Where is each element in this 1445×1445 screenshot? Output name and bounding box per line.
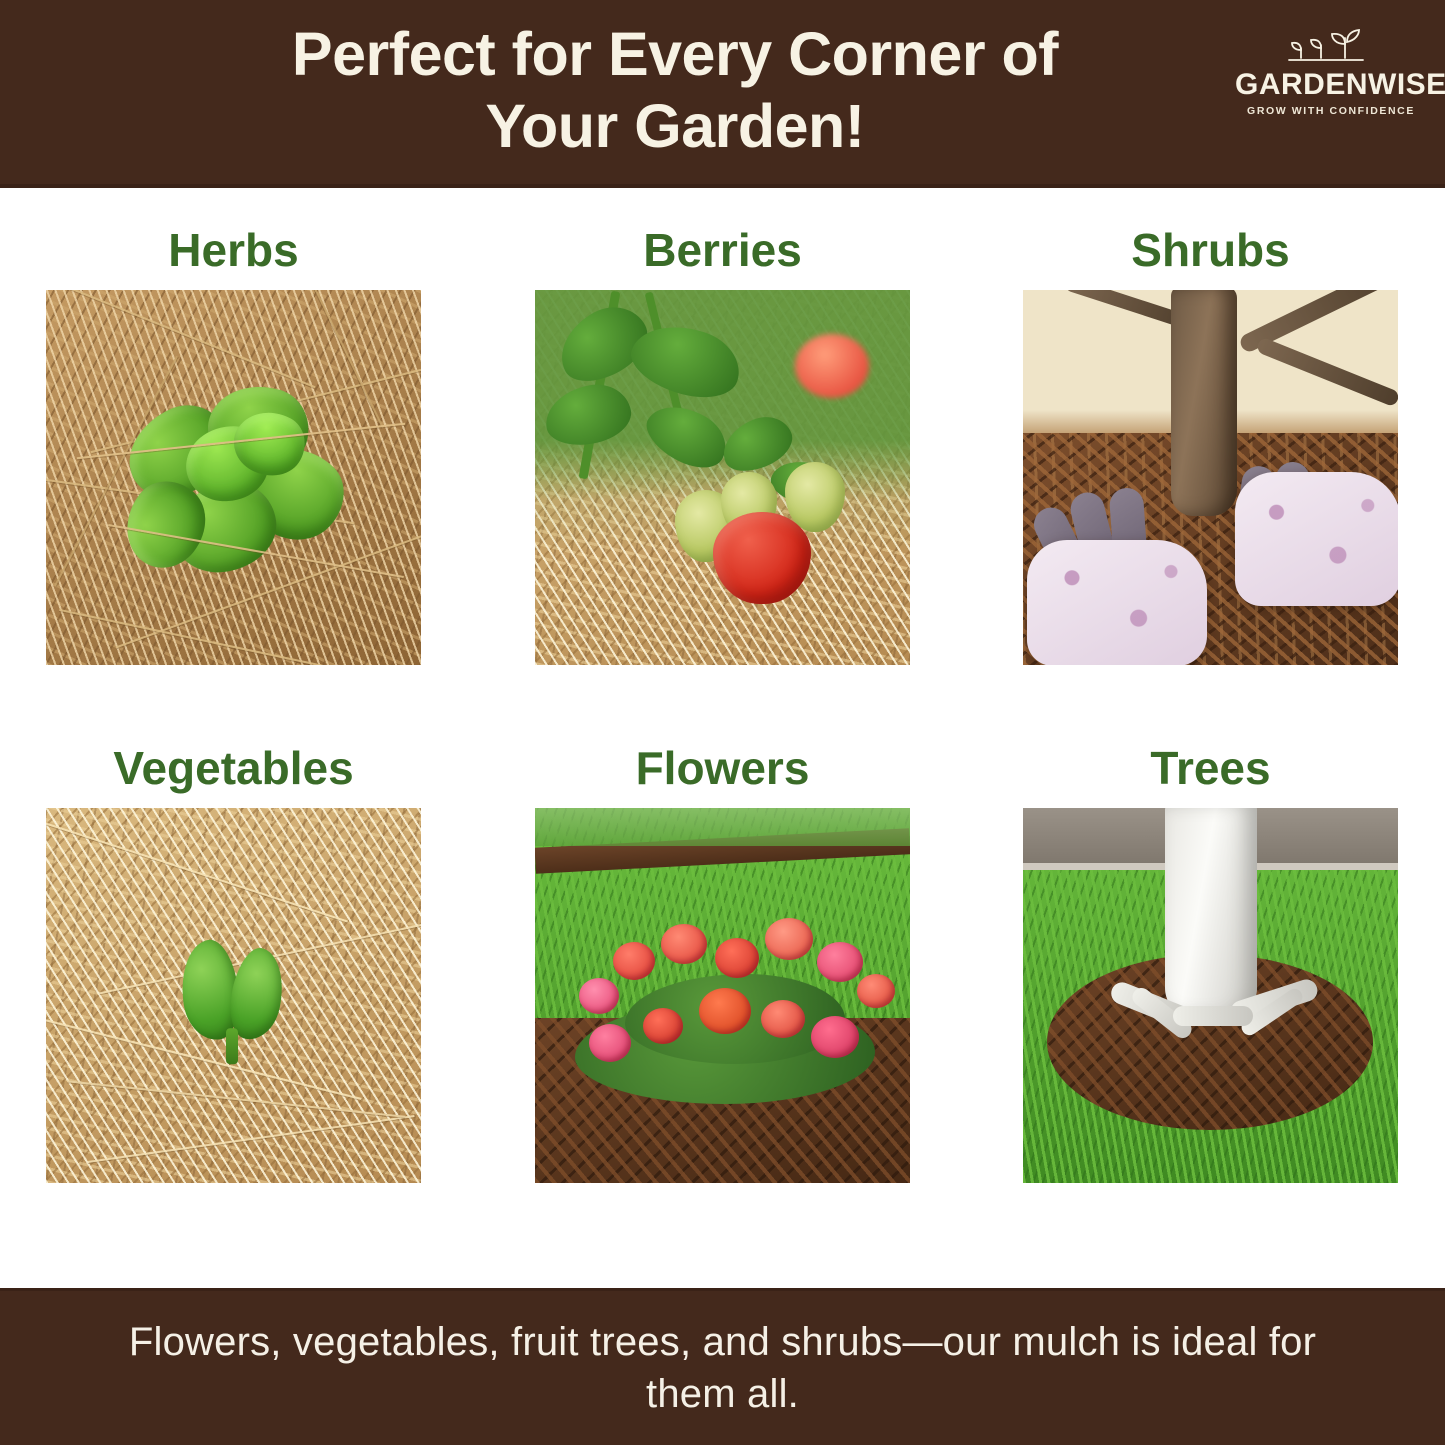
category-cell-shrubs: Shrubs — [1023, 224, 1398, 665]
logo-wordmark: GARDENWISE — [1235, 68, 1427, 102]
brand-logo: GARDENWISE GROW WITH CONFIDENCE — [1235, 22, 1427, 117]
footer-banner: Flowers, vegetables, fruit trees, and sh… — [0, 1288, 1445, 1445]
three-sprouts-icon — [1235, 22, 1427, 68]
category-grid: Herbs Berries — [0, 188, 1445, 1288]
category-label-herbs: Herbs — [46, 224, 421, 280]
category-cell-herbs: Herbs — [46, 224, 421, 665]
category-label-berries: Berries — [535, 224, 910, 280]
photo-vegetables — [46, 808, 421, 1183]
headline-line-1: Perfect for Every Corner of — [110, 18, 1240, 90]
category-label-vegetables: Vegetables — [46, 742, 421, 798]
photo-shrubs — [1023, 290, 1398, 665]
header-banner: Perfect for Every Corner of Your Garden!… — [0, 0, 1445, 188]
photo-herbs — [46, 290, 421, 665]
photo-flowers — [535, 808, 910, 1183]
rose-bush-graphic — [565, 904, 885, 1104]
category-cell-berries: Berries — [535, 224, 910, 665]
logo-tagline: GROW WITH CONFIDENCE — [1235, 105, 1427, 117]
category-cell-trees: Trees — [1023, 742, 1398, 1183]
category-label-shrubs: Shrubs — [1023, 224, 1398, 280]
footer-text: Flowers, vegetables, fruit trees, and sh… — [83, 1316, 1363, 1420]
category-cell-flowers: Flowers — [535, 742, 910, 1183]
photo-berries — [535, 290, 910, 665]
photo-trees — [1023, 808, 1398, 1183]
category-label-flowers: Flowers — [535, 742, 910, 798]
category-cell-vegetables: Vegetables — [46, 742, 421, 1183]
page-title: Perfect for Every Corner of Your Garden! — [110, 18, 1240, 162]
category-label-trees: Trees — [1023, 742, 1398, 798]
headline-line-2: Your Garden! — [110, 90, 1240, 162]
